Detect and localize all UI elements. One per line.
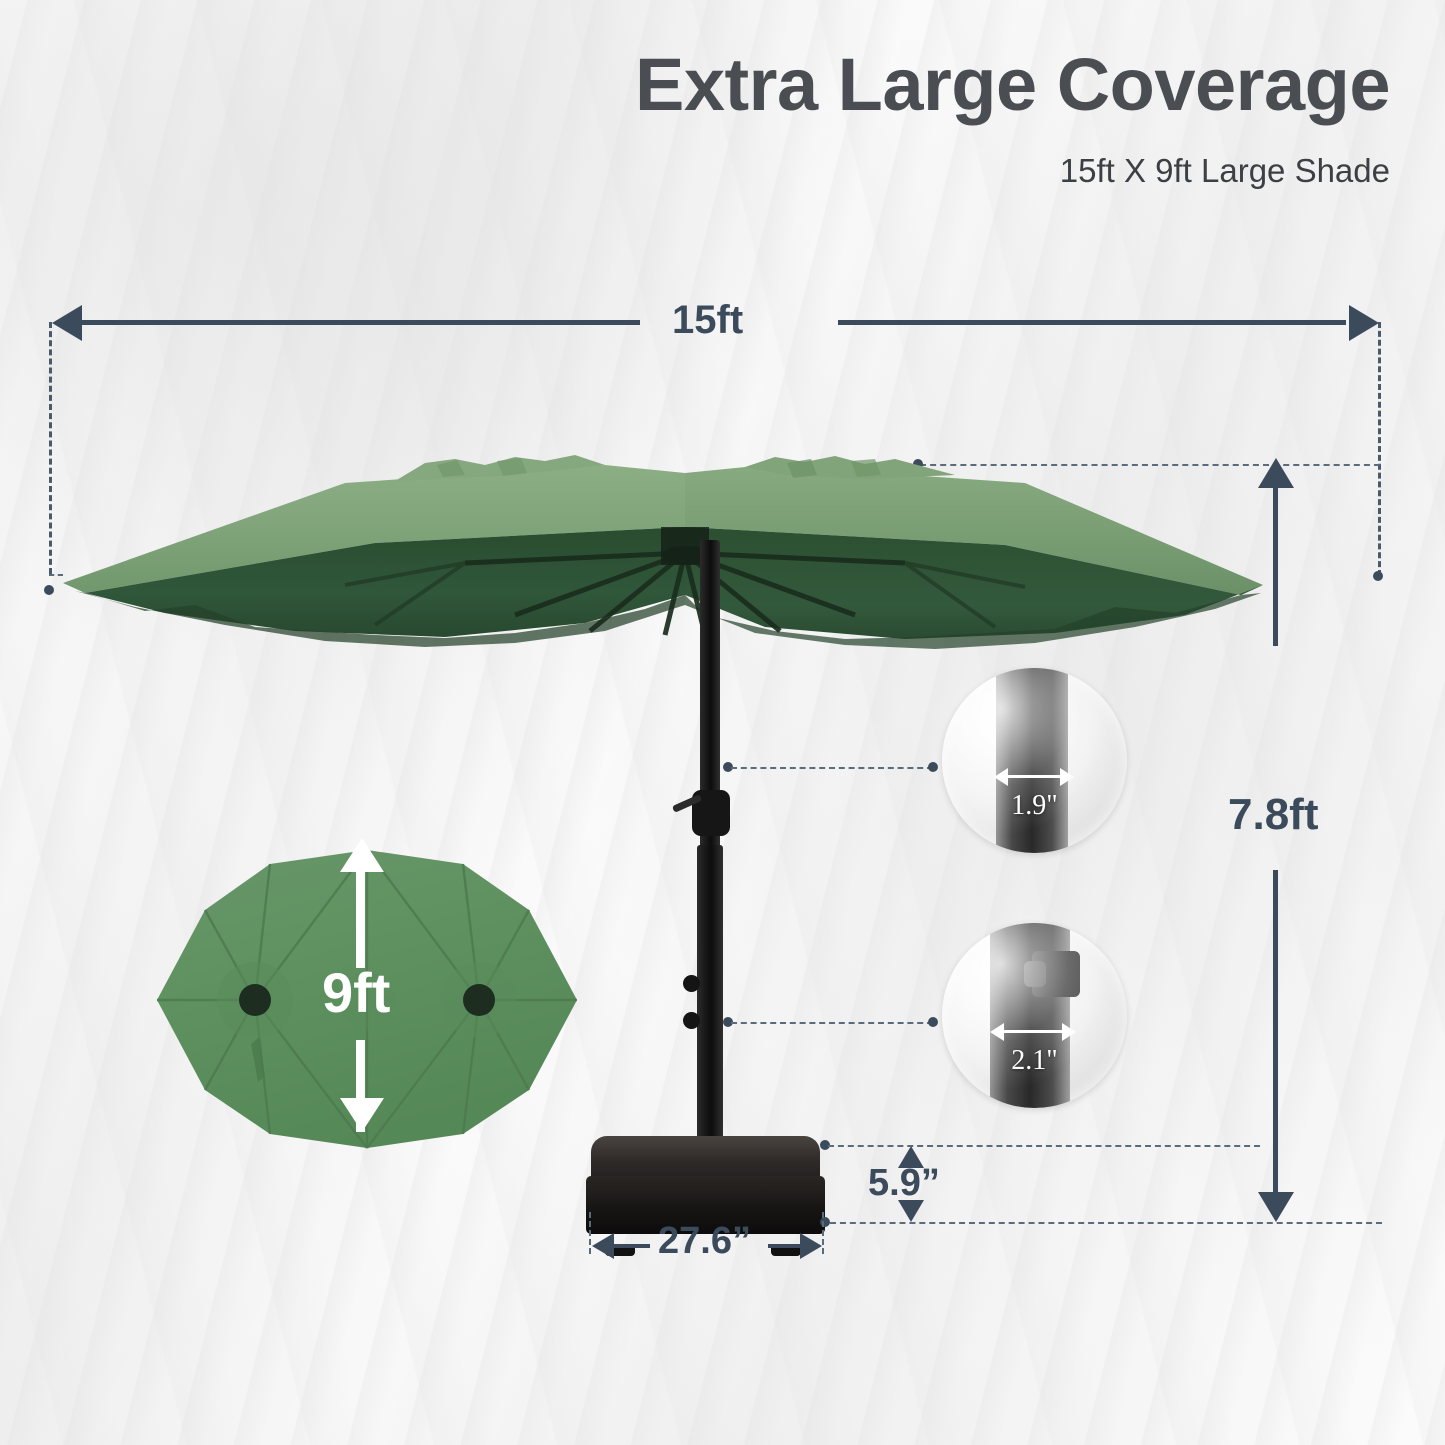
height-arrow-up-head [1258,458,1294,488]
mag-arrow-line-lower [1002,1030,1064,1033]
guide-base-bottom-right [830,1222,1382,1224]
width-arrow-left-head [52,305,82,341]
leader-line-lower [731,1022,933,1024]
magnified-pole-upper [996,668,1068,853]
product-infographic: Extra Large Coverage 15ft X 9ft Large Sh… [0,0,1445,1445]
header: Extra Large Coverage 15ft X 9ft Large Sh… [0,48,1390,190]
dim-lower-pole-diameter: 2.1" [942,1045,1127,1077]
umbrella-canopy-svg [45,435,1280,685]
depth-bar-upper [356,866,365,968]
dim-base-width: 27.6” [658,1220,751,1263]
pole-knob-upper [683,975,700,992]
leader-dot-magnifier-lower [928,1017,938,1027]
page-title: Extra Large Coverage [0,48,1390,122]
page-subtitle: 15ft X 9ft Large Shade [0,152,1390,190]
magnifier-lower-pole-diameter: 2.1" [942,923,1127,1108]
width-bar-right [838,320,1346,325]
magnifier-pole-diameter: 1.9" [942,668,1127,853]
dim-overall-height: 7.8ft [1228,790,1318,840]
mag-arrow-right-lower [1062,1023,1076,1041]
depth-arrow-down-head [340,1098,384,1132]
height-bar-upper [1273,486,1278,646]
guide-base-top [828,1145,1260,1147]
height-arrow-down-head [1258,1192,1294,1222]
base-width-bar-left [612,1244,650,1248]
mag-arrow-right-upper [1060,768,1074,786]
dim-canopy-depth: 9ft [322,960,390,1025]
dim-base-height: 5.9” [868,1162,940,1205]
magnified-crank-stub [1024,961,1046,987]
pole-knob-lower [683,1012,700,1029]
canopy-bottom-right-dot [1373,571,1383,581]
base-width-arrow-right [800,1233,822,1259]
dim-overall-width: 15ft [672,298,743,343]
height-bar-lower [1273,870,1278,1200]
guide-base-right [822,1212,824,1254]
umbrella-pole-lower [697,845,723,1150]
dim-pole-diameter: 1.9" [942,790,1127,822]
width-bar-left [80,320,640,325]
width-arrow-right-head [1349,305,1379,341]
guide-right-vertical [1378,322,1381,576]
guide-base-left [589,1212,591,1254]
mag-arrow-line-upper [1006,775,1062,778]
base-height-arrow-down [898,1200,924,1222]
umbrella-side-view [45,435,1280,685]
base-width-arrow-left [592,1233,614,1259]
leader-line-upper [731,767,933,769]
leader-dot-magnifier-upper [928,762,938,772]
